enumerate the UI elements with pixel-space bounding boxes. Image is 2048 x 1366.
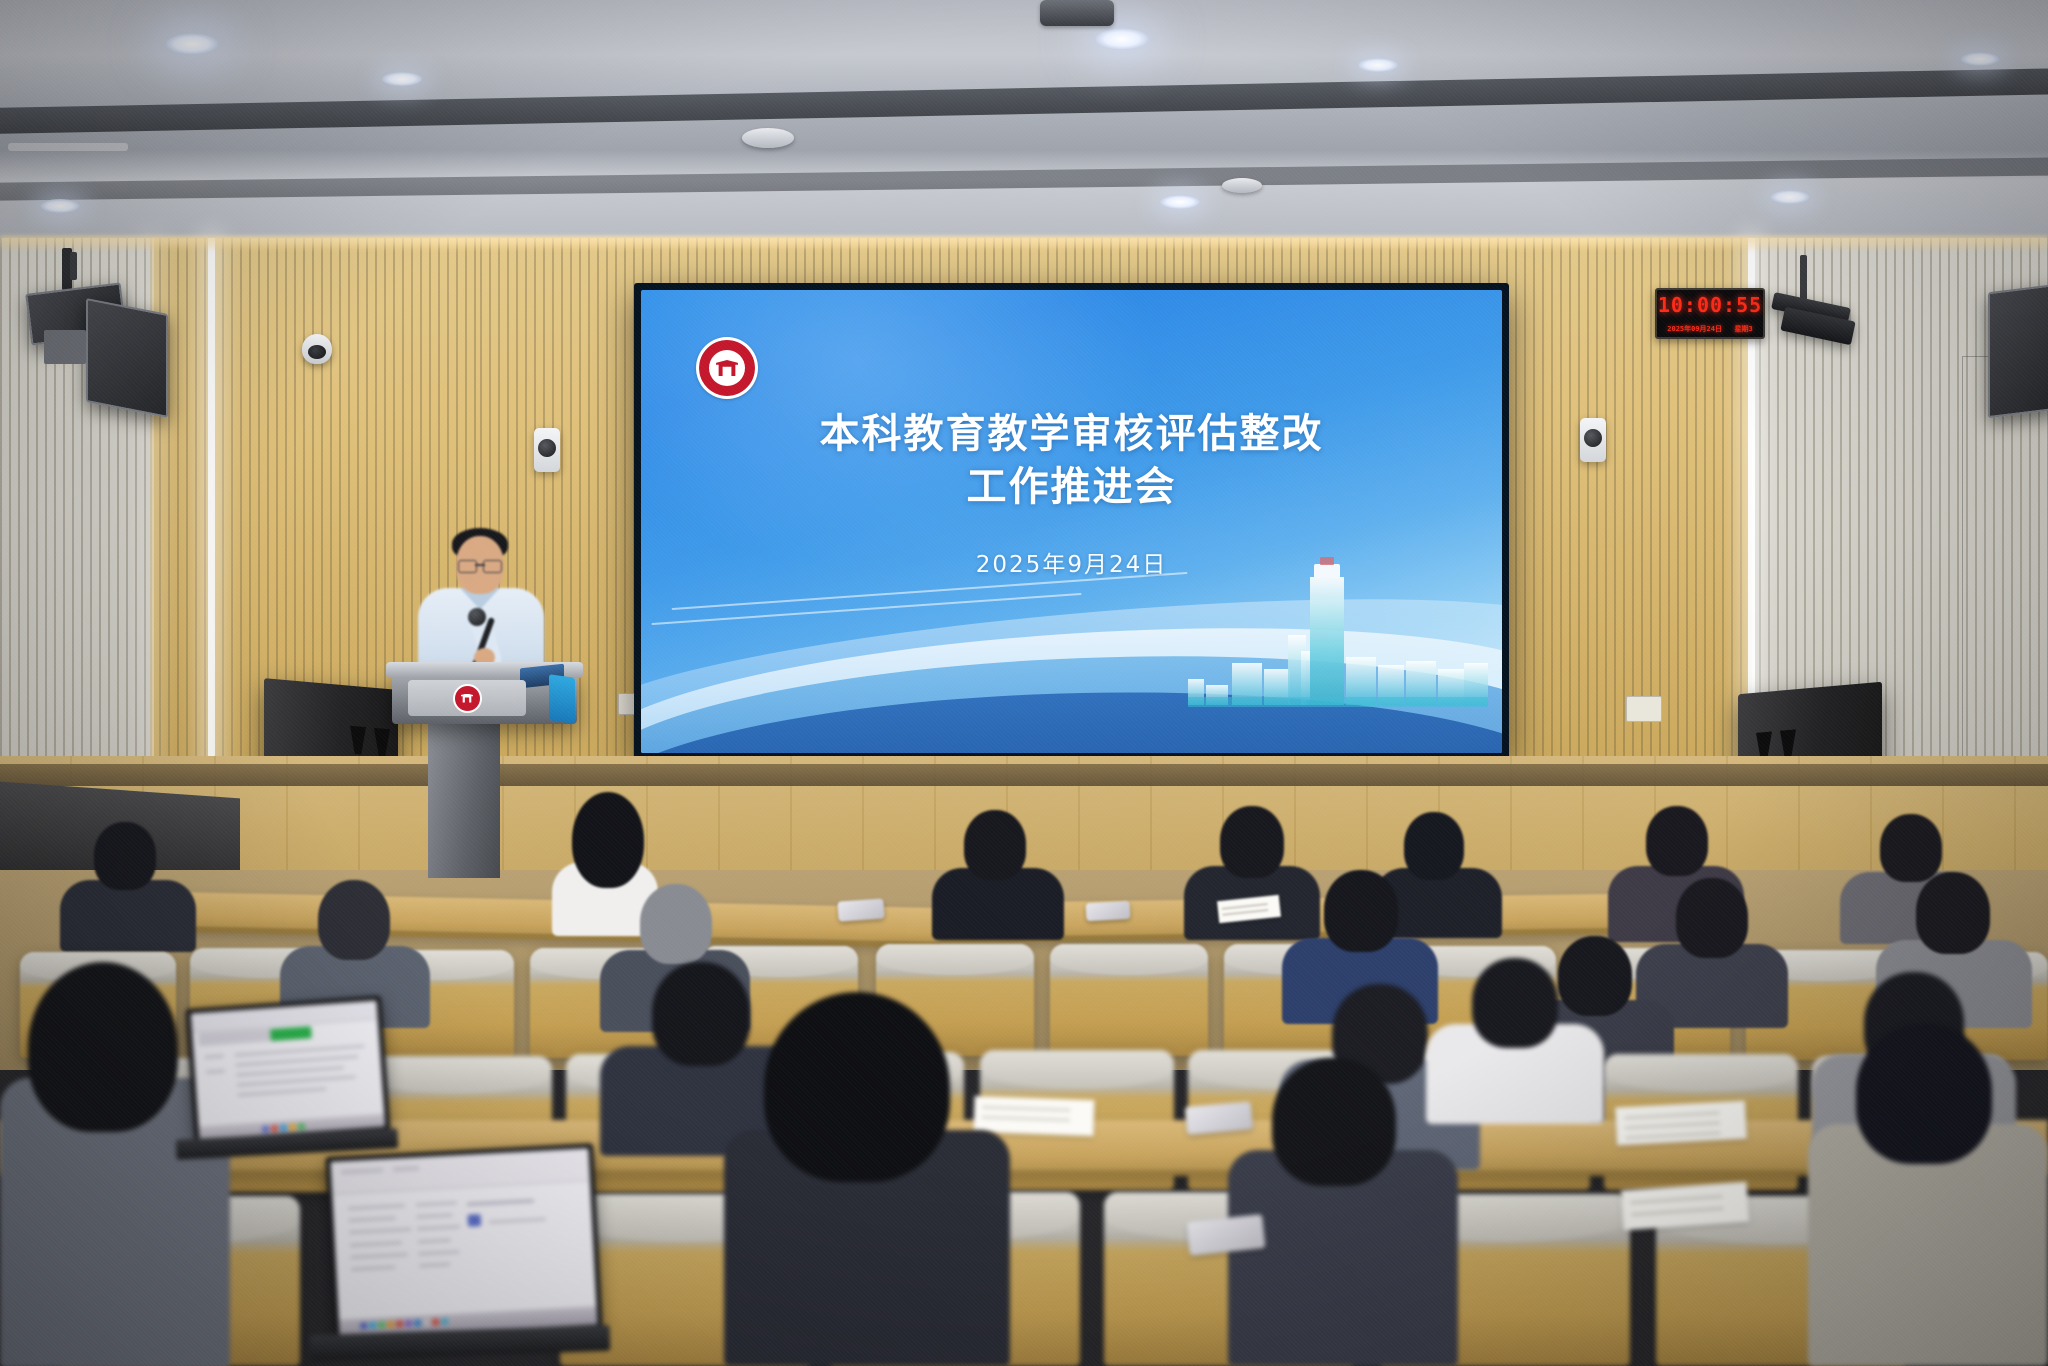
smartphone-on-desk [1086, 901, 1131, 921]
university-seal-emblem [453, 684, 482, 713]
downlight-icon [1960, 52, 2000, 66]
landmark-tower-graphic [1310, 577, 1344, 705]
stage-front-edge [0, 764, 2048, 786]
microphone-icon [468, 608, 486, 626]
ceiling-projector-mount [1040, 0, 1114, 26]
clock-date: 2025年09月24日 [1667, 324, 1722, 334]
lecture-hall-photo: 本科教育教学审核评估整改 工作推进会 2025年9月24日 10:00:55 2… [0, 0, 2048, 1366]
ceiling-sensor-icon [742, 128, 794, 148]
ptz-camera-left [534, 428, 560, 472]
hanging-speaker-left [86, 298, 168, 418]
smartphone-on-desk [837, 898, 884, 921]
ptz-camera-right [1580, 418, 1606, 462]
podium-accent-panel [549, 674, 575, 724]
downlight-icon [1770, 190, 1810, 204]
highlight-chip [270, 1027, 312, 1041]
ceiling-vent [8, 143, 128, 151]
downlight-icon [165, 33, 219, 55]
seat[interactable] [1050, 944, 1208, 1056]
podium-column [428, 718, 500, 878]
presentation-date: 2025年9月24日 [641, 545, 1502, 579]
presentation-title-line2: 工作推进会 [641, 461, 1502, 514]
podium-front-panel [408, 680, 526, 716]
downlight-icon [1160, 195, 1200, 209]
led-presentation-screen[interactable]: 本科教育教学审核评估整改 工作推进会 2025年9月24日 [634, 283, 1509, 760]
university-seal-emblem [696, 337, 758, 399]
smartphone-on-desk [1185, 1101, 1253, 1135]
downlight-icon [1358, 58, 1398, 72]
presentation-title-line1: 本科教育教学审核评估整改 [641, 408, 1502, 461]
wall-led-strip [208, 238, 215, 798]
door-outline[interactable] [1962, 356, 2048, 797]
eyeglasses-icon [458, 560, 502, 571]
ceiling-cove-light [0, 236, 2048, 250]
clock-weekday: 星期3 [1735, 324, 1753, 334]
downlight-icon [382, 72, 422, 86]
presentation-title: 本科教育教学审核评估整改 工作推进会 [641, 408, 1502, 514]
wall-socket-plate[interactable] [1626, 696, 1662, 722]
hanging-speaker-right [1988, 284, 2048, 419]
downlight-icon [40, 199, 80, 213]
ceiling [0, 0, 2048, 250]
paper-document [973, 1096, 1094, 1136]
screen-content: 本科教育教学审核评估整改 工作推进会 2025年9月24日 [641, 290, 1502, 753]
dome-camera-left [302, 334, 332, 364]
light-bar-arm [70, 252, 77, 280]
clock-time: 10:00:55 [1657, 293, 1763, 317]
paper-document [1615, 1101, 1747, 1146]
light-bar-arm [1800, 255, 1807, 303]
downlight-icon [1095, 28, 1149, 50]
ceiling-sensor-icon [1222, 178, 1262, 193]
led-wall-clock: 10:00:55 2025年09月24日 星期3 [1655, 288, 1765, 339]
campus-skyline-graphic [1188, 560, 1488, 705]
speaker-mount-bracket [44, 330, 86, 364]
